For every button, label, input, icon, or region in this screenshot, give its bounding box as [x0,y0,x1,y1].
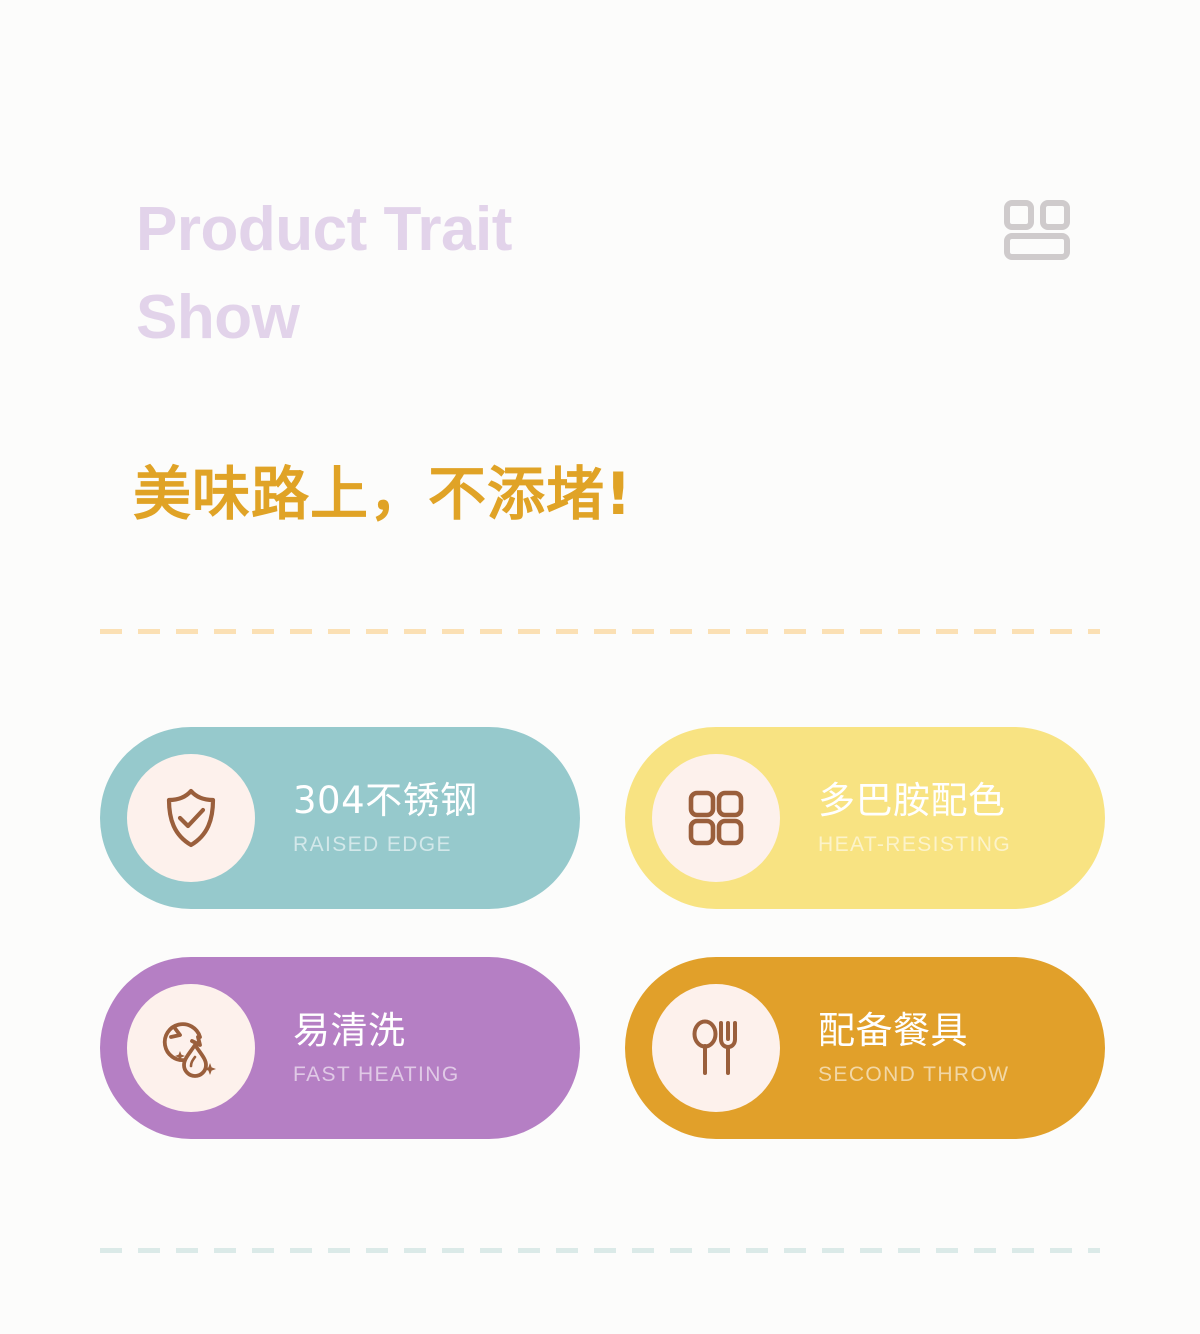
spoon-fork-icon [683,1015,749,1081]
product-trait-show-page: Product Trait Show 美味路上，不添堵! 304不锈钢 [0,0,1200,1334]
feature-icon-badge [652,754,780,882]
title-block: Product Trait Show [136,186,736,362]
divider-bottom [100,1248,1100,1253]
feature-icon-badge [127,984,255,1112]
page-title: Product Trait Show [136,186,736,362]
grid-four-squares-icon [683,785,749,851]
feature-text-block: 多巴胺配色 HEAT-RESISTING [818,779,1011,858]
feature-title: 易清洗 [293,1009,460,1053]
shield-check-icon [158,785,224,851]
feature-card-cutlery-included[interactable]: 配备餐具 SECOND THROW [625,957,1105,1139]
feature-subtitle: SECOND THROW [818,1063,1009,1087]
feature-subtitle: FAST HEATING [293,1063,460,1087]
layout-grid-icon[interactable] [1002,198,1072,260]
feature-text-block: 配备餐具 SECOND THROW [818,1009,1009,1088]
feature-text-block: 304不锈钢 RAISED EDGE [293,779,478,858]
page-header: Product Trait Show [136,186,1076,362]
feature-card-dopamine-colors[interactable]: 多巴胺配色 HEAT-RESISTING [625,727,1105,909]
feature-title: 配备餐具 [818,1009,1009,1053]
feature-icon-badge [652,984,780,1112]
feature-text-block: 易清洗 FAST HEATING [293,1009,460,1088]
feature-icon-badge [127,754,255,882]
feature-card-stainless-steel[interactable]: 304不锈钢 RAISED EDGE [100,727,580,909]
feature-card-easy-clean[interactable]: 易清洗 FAST HEATING [100,957,580,1139]
feature-subtitle: RAISED EDGE [293,833,478,857]
slogan-text: 美味路上，不添堵! [133,447,632,531]
feature-subtitle: HEAT-RESISTING [818,833,1011,857]
divider-top [100,629,1100,634]
feature-card-grid: 304不锈钢 RAISED EDGE 多巴胺配色 HEAT-RESISTING [100,727,1105,1139]
water-drop-refresh-icon [158,1015,224,1081]
feature-title: 多巴胺配色 [818,779,1011,823]
feature-title: 304不锈钢 [293,779,478,823]
